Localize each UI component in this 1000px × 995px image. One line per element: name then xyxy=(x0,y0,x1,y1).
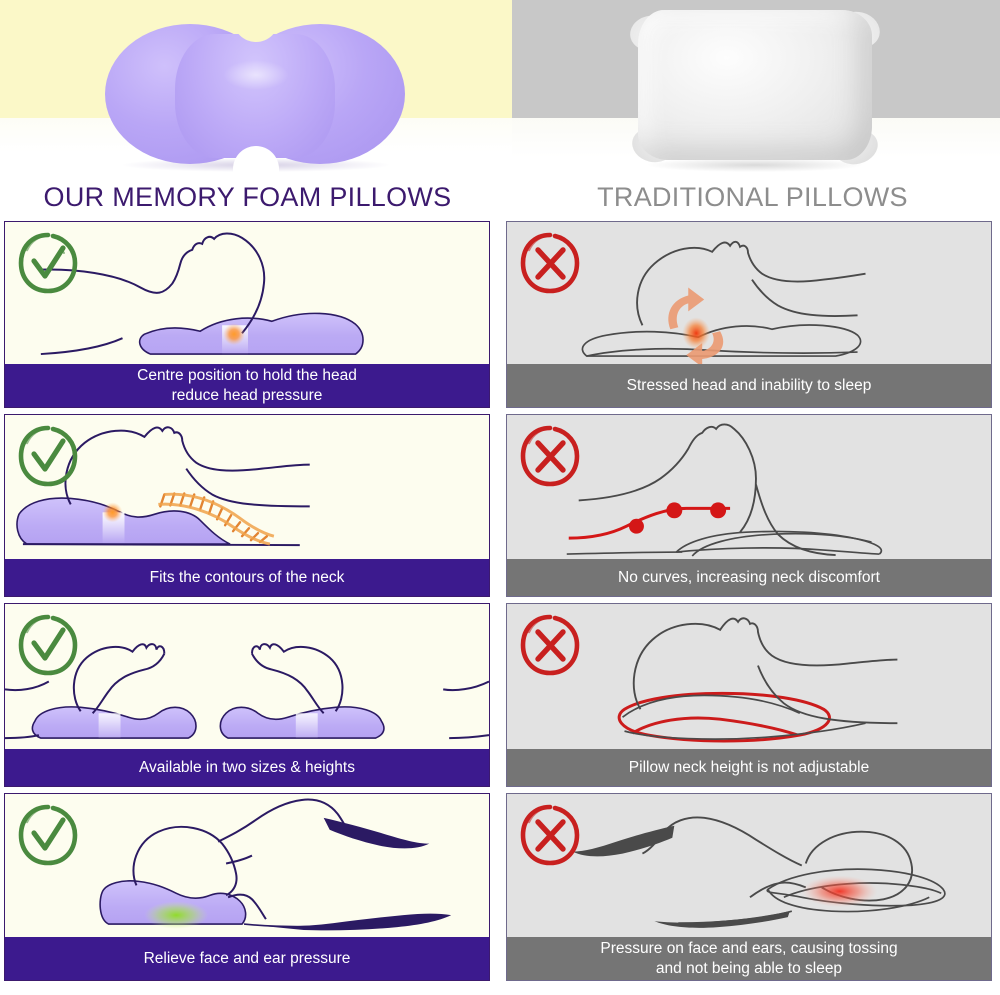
bad-card-1: Stressed head and inability to sleep xyxy=(506,221,992,408)
hero-banner xyxy=(0,0,1000,175)
cross-badge xyxy=(517,612,583,678)
cross-badge xyxy=(517,802,583,868)
good-card-3: Available in two sizes & heights xyxy=(4,603,490,787)
cross-circle-icon xyxy=(517,423,583,489)
cross-circle-icon xyxy=(517,612,583,678)
good-caption-3: Available in two sizes & heights xyxy=(4,749,490,787)
bad-caption-1: Stressed head and inability to sleep xyxy=(506,364,992,408)
check-badge xyxy=(15,423,81,489)
infographic-page: OUR MEMORY FOAM PILLOWS TRADITIONAL PILL… xyxy=(0,0,1000,995)
comparison-row: Centre position to hold the head reduce … xyxy=(0,221,1000,414)
good-illustration-4 xyxy=(4,793,490,937)
bad-caption-4: Pressure on face and ears, causing tossi… xyxy=(506,937,992,981)
check-circle-icon xyxy=(15,802,81,868)
traditional-pillow-photo xyxy=(630,6,880,166)
hero-left-photo xyxy=(0,0,512,175)
caption-line: Pressure on face and ears, causing tossi… xyxy=(600,939,897,959)
cross-circle-icon xyxy=(517,802,583,868)
caption-line: Relieve face and ear pressure xyxy=(144,949,351,969)
heading-memory-foam: OUR MEMORY FOAM PILLOWS xyxy=(0,175,495,221)
good-card-4: Relieve face and ear pressure xyxy=(4,793,490,981)
comparison-row: Relieve face and ear pressure xyxy=(0,793,1000,987)
check-circle-icon xyxy=(15,423,81,489)
good-illustration-3 xyxy=(4,603,490,749)
comparison-row: Fits the contours of the neck xyxy=(0,414,1000,603)
bad-illustration-3 xyxy=(506,603,992,749)
good-illustration-2 xyxy=(4,414,490,559)
bad-card-2: No curves, increasing neck discomfort xyxy=(506,414,992,597)
caption-line: and not being able to sleep xyxy=(600,959,897,979)
bad-caption-2: No curves, increasing neck discomfort xyxy=(506,559,992,597)
bad-caption-3: Pillow neck height is not adjustable xyxy=(506,749,992,787)
caption-line: reduce head pressure xyxy=(137,386,357,406)
good-caption-1: Centre position to hold the head reduce … xyxy=(4,364,490,408)
caption-line: Stressed head and inability to sleep xyxy=(627,376,872,396)
bad-illustration-1 xyxy=(506,221,992,364)
check-badge xyxy=(15,612,81,678)
cross-circle-icon xyxy=(517,230,583,296)
bad-card-4: Pressure on face and ears, causing tossi… xyxy=(506,793,992,981)
check-badge xyxy=(15,230,81,296)
good-caption-2: Fits the contours of the neck xyxy=(4,559,490,597)
cross-badge xyxy=(517,423,583,489)
good-card-2: Fits the contours of the neck xyxy=(4,414,490,597)
comparison-rows: Centre position to hold the head reduce … xyxy=(0,221,1000,987)
caption-line: No curves, increasing neck discomfort xyxy=(618,568,880,588)
comparison-row: Available in two sizes & heights xyxy=(0,603,1000,793)
caption-line: Pillow neck height is not adjustable xyxy=(629,758,869,778)
bad-illustration-4 xyxy=(506,793,992,937)
caption-line: Fits the contours of the neck xyxy=(150,568,345,588)
heading-traditional: TRADITIONAL PILLOWS xyxy=(505,175,1000,221)
check-circle-icon xyxy=(15,612,81,678)
good-illustration-1 xyxy=(4,221,490,364)
check-badge xyxy=(15,802,81,868)
cross-badge xyxy=(517,230,583,296)
good-card-1: Centre position to hold the head reduce … xyxy=(4,221,490,408)
good-caption-4: Relieve face and ear pressure xyxy=(4,937,490,981)
bad-card-3: Pillow neck height is not adjustable xyxy=(506,603,992,787)
check-circle-icon xyxy=(15,230,81,296)
memory-foam-pillow-photo xyxy=(105,8,405,168)
caption-line: Centre position to hold the head xyxy=(137,366,357,386)
bad-illustration-2 xyxy=(506,414,992,559)
caption-line: Available in two sizes & heights xyxy=(139,758,355,778)
column-headings: OUR MEMORY FOAM PILLOWS TRADITIONAL PILL… xyxy=(0,175,1000,221)
hero-right-floor xyxy=(470,118,1000,175)
